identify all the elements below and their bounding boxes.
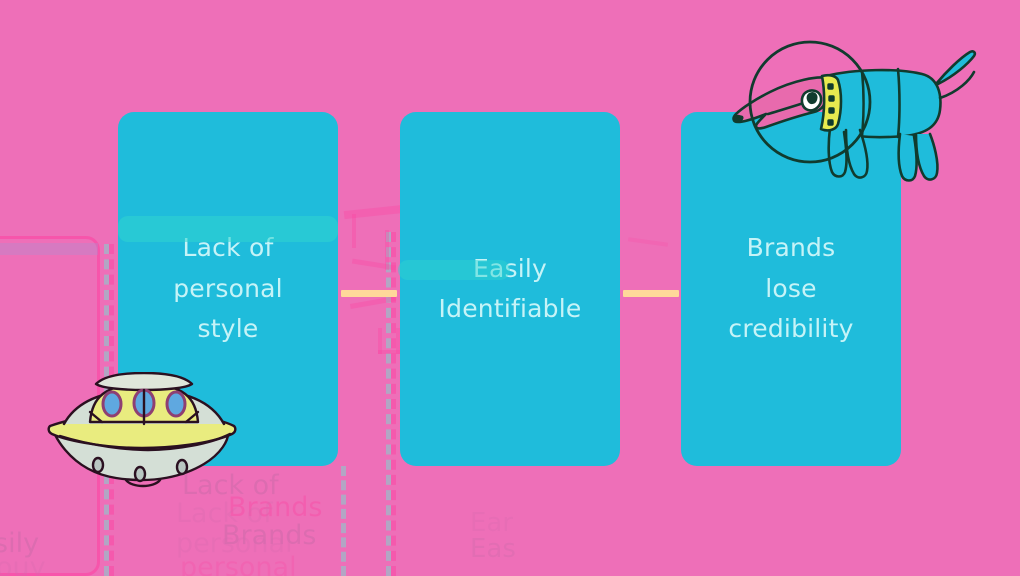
- ghost-smear-card1-right-mid: [352, 259, 396, 271]
- flying-saucer-illustration: [44, 372, 244, 496]
- card-lack-of-personal-style-label: Lack of personal style: [157, 228, 299, 350]
- ghost-dashed-guide-2: [386, 232, 391, 576]
- ghost-text-5: personal: [176, 528, 293, 559]
- ghost-text-2: Brands: [228, 492, 323, 523]
- card-brands-lose-credibility-label: Brands lose credibility: [712, 228, 869, 350]
- ghost-text-9: sily: [0, 528, 39, 559]
- connector-card1-card2: [341, 290, 397, 297]
- ghost-text-7: Ear: [470, 508, 513, 538]
- ghost-smear-card1-right-top: [344, 205, 405, 219]
- ghost-smear-card1-right-u: [378, 328, 382, 354]
- ghost-text-6: personal: [180, 552, 297, 576]
- space-dachshund-illustration: [722, 36, 992, 190]
- ghost-smear-card1-right-low: [350, 296, 396, 309]
- connector-card2-card3: [623, 290, 679, 297]
- ghost-dashed-guide-2b: [391, 232, 396, 576]
- ghost-smear-left-bar: [0, 243, 98, 255]
- ghost-text-10: ouy: [0, 552, 46, 576]
- ghost-smear-card1-right-ubar: [378, 350, 400, 354]
- card-easily-identifiable-label: Easily Identifiable: [423, 249, 598, 330]
- ghost-text-8: Eas: [470, 534, 516, 564]
- card-easily-identifiable[interactable]: Easily Identifiable: [400, 112, 620, 466]
- ghost-smear-card1-right-v2: [385, 230, 389, 270]
- ghost-smear-card1-right-v1: [352, 214, 356, 248]
- ghost-dashed-guide-3: [341, 466, 346, 576]
- presentation-slide: Lack of Brands Lack of Brands personal p…: [0, 0, 1020, 576]
- ghost-text-4: Brands: [222, 520, 317, 551]
- ghost-smear-gap2-1: [628, 237, 668, 247]
- ghost-text-3: Lack of: [176, 498, 273, 529]
